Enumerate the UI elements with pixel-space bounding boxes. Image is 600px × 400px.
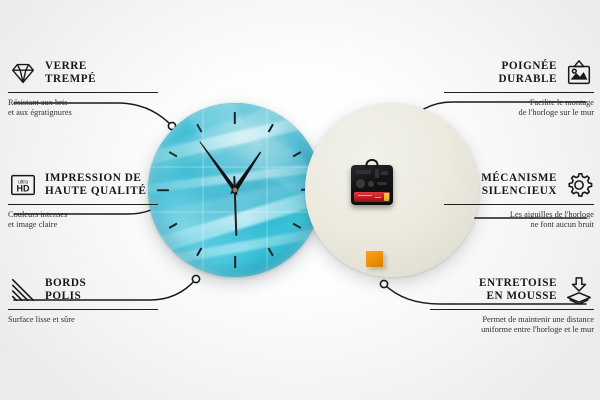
diamond-icon — [8, 58, 38, 88]
svg-text:HD: HD — [17, 184, 30, 194]
feature-header: BORDS POLIS — [8, 275, 158, 305]
divider — [8, 309, 158, 310]
endpoint-entretoise — [380, 280, 387, 287]
feature-title: VERRE TREMPÉ — [45, 60, 96, 87]
hanger-loop-icon — [366, 159, 379, 168]
feature-header: MÉCANISME SILENCIEUX — [444, 170, 594, 200]
feature-title: ENTRETOISE EN MOUSSE — [479, 277, 557, 304]
feature-header: POIGNÉE DURABLE — [444, 58, 594, 88]
ultra-hd-icon: ultra HD — [8, 170, 38, 200]
feature-verre-trempe: VERRE TREMPÉ Résistant aux bris et aux é… — [8, 58, 158, 119]
divider — [8, 204, 158, 205]
clock-center-pin — [233, 188, 238, 193]
feature-subtitle: Les aiguilles de l'horloge ne font aucun… — [444, 210, 594, 231]
clock-mechanism — [351, 165, 393, 205]
battery — [354, 192, 390, 202]
divider — [430, 309, 594, 310]
divider — [444, 92, 594, 93]
feature-title: IMPRESSION DE HAUTE QUALITÉ — [45, 172, 146, 199]
feature-mecanisme-silencieux: MÉCANISME SILENCIEUX Les aiguilles de l'… — [444, 170, 594, 231]
infographic-stage: VERRE TREMPÉ Résistant aux bris et aux é… — [0, 0, 600, 400]
feature-subtitle: Surface lisse et sûre — [8, 315, 158, 325]
polished-edges-icon — [8, 275, 38, 305]
divider — [8, 92, 158, 93]
feature-subtitle: Couleurs intenses et image claire — [8, 210, 158, 231]
feature-title: BORDS POLIS — [45, 277, 86, 304]
feature-header: ultra HD IMPRESSION DE HAUTE QUALITÉ — [8, 170, 158, 200]
feature-header: VERRE TREMPÉ — [8, 58, 158, 88]
wall-hanger-icon — [564, 58, 594, 88]
clock-hands — [148, 103, 322, 277]
clock-front-face — [148, 103, 322, 277]
feature-bords-polis: BORDS POLIS Surface lisse et sûre — [8, 275, 158, 325]
divider — [444, 204, 594, 205]
feature-subtitle: Résistant aux bris et aux égratignures — [8, 98, 158, 119]
foam-spacer-icon — [564, 275, 594, 305]
feature-poignee-durable: POIGNÉE DURABLE Facilite le montage de l… — [444, 58, 594, 119]
feature-header: ENTRETOISE EN MOUSSE — [430, 275, 594, 305]
foam-spacer — [366, 251, 383, 267]
feature-entretoise-en-mousse: ENTRETOISE EN MOUSSE Permet de maintenir… — [430, 275, 594, 336]
feature-title: MÉCANISME SILENCIEUX — [481, 172, 557, 199]
feature-title: POIGNÉE DURABLE — [498, 60, 557, 87]
feature-subtitle: Facilite le montage de l'horloge sur le … — [444, 98, 594, 119]
feature-subtitle: Permet de maintenir une distance uniform… — [430, 315, 594, 336]
gear-icon — [564, 170, 594, 200]
feature-impression-haute-qualite: ultra HD IMPRESSION DE HAUTE QUALITÉ Cou… — [8, 170, 158, 231]
